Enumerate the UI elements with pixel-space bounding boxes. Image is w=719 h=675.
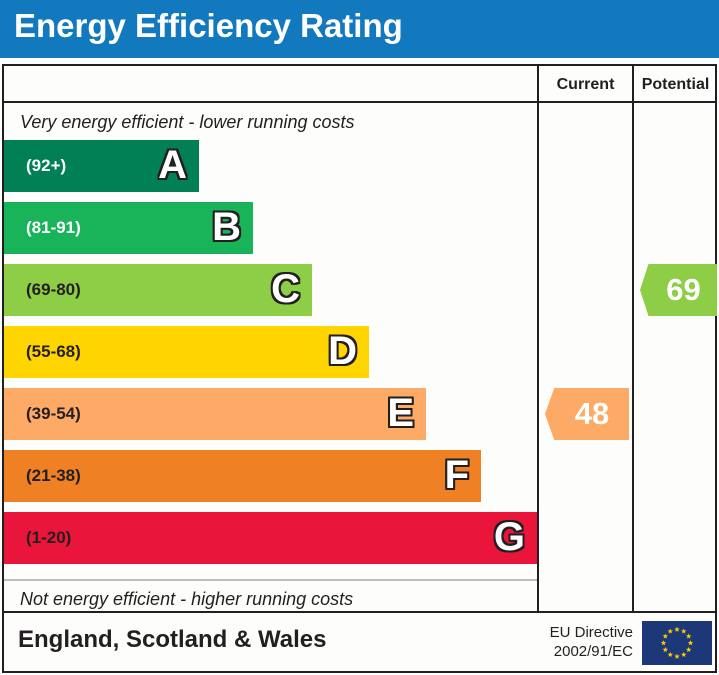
eu-directive-label: EU Directive 2002/91/EC (525, 623, 633, 661)
header-divider (4, 101, 715, 103)
band-g: (1-20)G (4, 512, 537, 564)
rating-value-current: 48 (545, 388, 629, 440)
band-c: (69-80)C (4, 264, 312, 316)
rating-arrow-potential: 69 (640, 264, 717, 316)
rating-value-potential: 69 (640, 264, 717, 316)
caption-divider (4, 579, 537, 581)
band-letter-d: D (328, 326, 357, 378)
band-range-g: (1-20) (26, 512, 71, 564)
column-divider-current (537, 66, 539, 611)
band-letter-f: F (445, 450, 469, 502)
title-bar: Energy Efficiency Rating (0, 0, 719, 58)
band-range-f: (21-38) (26, 450, 81, 502)
rating-bands: (92+)A(81-91)B(69-80)C(55-68)D(39-54)E(2… (4, 138, 537, 578)
band-letter-b: B (212, 202, 241, 254)
band-letter-e: E (387, 388, 414, 440)
eu-flag-icon (642, 621, 712, 665)
caption-inefficient: Not energy efficient - higher running co… (20, 587, 353, 611)
region-label: England, Scotland & Wales (18, 626, 326, 654)
column-header-current: Current (539, 74, 632, 96)
eu-directive-line1: EU Directive (525, 623, 633, 642)
caption-efficient: Very energy efficient - lower running co… (20, 110, 355, 134)
band-f: (21-38)F (4, 450, 481, 502)
page-title: Energy Efficiency Rating (14, 7, 403, 45)
band-range-c: (69-80) (26, 264, 81, 316)
footer-bar: England, Scotland & Wales EU Directive 2… (2, 613, 717, 673)
band-a: (92+)A (4, 140, 199, 192)
column-divider-potential (632, 66, 634, 611)
column-header-potential: Potential (634, 74, 717, 96)
band-letter-c: C (271, 264, 300, 316)
band-range-a: (92+) (26, 140, 66, 192)
band-range-b: (81-91) (26, 202, 81, 254)
energy-efficiency-certificate: Energy Efficiency Rating Current Potenti… (0, 0, 719, 675)
band-range-d: (55-68) (26, 326, 81, 378)
rating-arrow-current: 48 (545, 388, 629, 440)
band-e: (39-54)E (4, 388, 426, 440)
eu-directive-line2: 2002/91/EC (525, 642, 633, 661)
band-letter-a: A (158, 140, 187, 192)
band-d: (55-68)D (4, 326, 369, 378)
band-b: (81-91)B (4, 202, 253, 254)
band-letter-g: G (494, 512, 525, 564)
band-range-e: (39-54) (26, 388, 81, 440)
rating-table: Current Potential Very energy efficient … (2, 64, 717, 613)
